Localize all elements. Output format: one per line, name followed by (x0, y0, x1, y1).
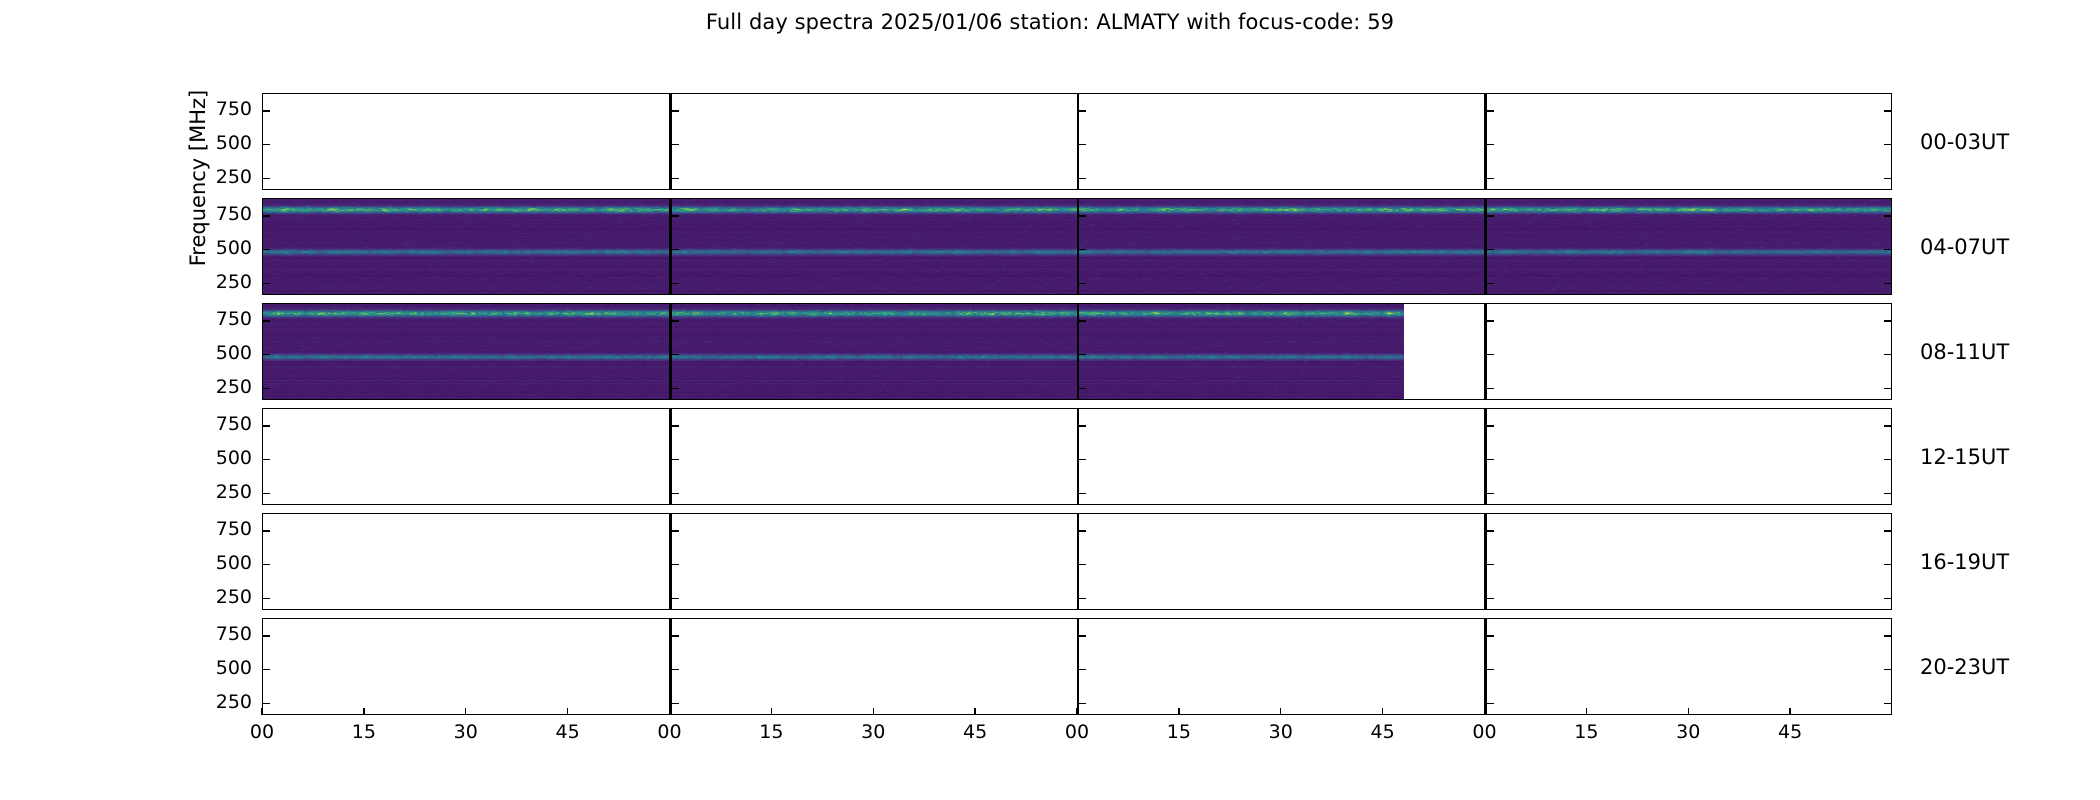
y-tick-mark (672, 493, 679, 494)
spectrogram-panel-08-11ut[interactable] (262, 303, 1892, 400)
y-tick-label: 750 (192, 98, 252, 120)
y-tick-mark (263, 493, 270, 494)
y-tick-mark (1487, 283, 1494, 284)
y-tick-mark (672, 425, 679, 426)
hour-separator (669, 409, 671, 505)
y-tick-mark (1079, 703, 1086, 704)
y-tick-mark (263, 320, 270, 321)
y-tick-mark (1079, 459, 1086, 460)
y-tick-mark (1079, 388, 1086, 389)
y-tick-mark (263, 530, 270, 531)
hour-separator (1484, 619, 1486, 715)
x-tick-mark (1586, 708, 1587, 715)
hour-separator (1077, 94, 1079, 190)
hour-separator (1484, 199, 1486, 295)
panel-row: 75050025012-15UT (262, 408, 1892, 505)
y-tick-mark (1079, 215, 1086, 216)
y-tick-mark (263, 703, 270, 704)
x-tick-mark (261, 708, 262, 715)
hour-separator (1077, 199, 1079, 295)
y-tick-label: 250 (192, 691, 252, 713)
x-tick-mark (873, 708, 874, 715)
x-tick-label: 00 (232, 721, 292, 743)
spectrogram-panel-00-03ut[interactable] (262, 93, 1892, 190)
x-tick-label: 00 (1047, 721, 1107, 743)
y-tick-mark (1079, 283, 1086, 284)
hour-separator (1484, 409, 1486, 505)
y-tick-mark (1884, 530, 1891, 531)
y-tick-mark (1079, 320, 1086, 321)
row-label-12-15ut: 12-15UT (1920, 445, 2009, 469)
y-tick-mark (672, 110, 679, 111)
y-tick-label: 750 (192, 518, 252, 540)
y-tick-mark (1884, 354, 1891, 355)
panel-row: 75050025000-03UT (262, 93, 1892, 190)
y-tick-mark (1884, 249, 1891, 250)
y-tick-mark (1487, 144, 1494, 145)
y-tick-mark (1487, 110, 1494, 111)
y-tick-mark (263, 354, 270, 355)
y-tick-mark (263, 635, 270, 636)
y-tick-mark (1079, 178, 1086, 179)
y-tick-mark (1487, 598, 1494, 599)
y-tick-mark (1487, 459, 1494, 460)
y-tick-label: 250 (192, 481, 252, 503)
x-tick-mark (465, 708, 466, 715)
y-tick-mark (263, 110, 270, 111)
y-tick-mark (263, 425, 270, 426)
y-tick-mark (1487, 530, 1494, 531)
y-tick-mark (1487, 635, 1494, 636)
spectrogram-figure: Full day spectra 2025/01/06 station: ALM… (0, 0, 2100, 800)
figure-title: Full day spectra 2025/01/06 station: ALM… (0, 10, 2100, 34)
y-tick-label: 750 (192, 308, 252, 330)
x-tick-mark (1382, 708, 1383, 715)
y-tick-mark (1487, 425, 1494, 426)
x-tick-mark (1178, 708, 1179, 715)
x-tick-mark (771, 708, 772, 715)
y-tick-mark (672, 249, 679, 250)
y-tick-mark (263, 388, 270, 389)
hour-separator (1077, 304, 1079, 400)
y-tick-mark (1884, 283, 1891, 284)
y-tick-label: 750 (192, 203, 252, 225)
y-tick-mark (1884, 635, 1891, 636)
y-tick-label: 500 (192, 132, 252, 154)
y-tick-mark (1884, 703, 1891, 704)
y-tick-mark (1079, 635, 1086, 636)
x-tick-mark (669, 708, 670, 715)
y-tick-label: 250 (192, 586, 252, 608)
y-tick-mark (672, 564, 679, 565)
row-label-00-03ut: 00-03UT (1920, 130, 2009, 154)
row-label-16-19ut: 16-19UT (1920, 550, 2009, 574)
x-tick-mark (567, 708, 568, 715)
y-tick-mark (1884, 215, 1891, 216)
y-tick-mark (672, 598, 679, 599)
y-tick-mark (1079, 598, 1086, 599)
x-tick-mark (363, 708, 364, 715)
y-tick-mark (1487, 215, 1494, 216)
y-tick-mark (1884, 493, 1891, 494)
x-tick-label: 30 (1251, 721, 1311, 743)
y-tick-mark (1079, 564, 1086, 565)
x-tick-label: 45 (538, 721, 598, 743)
hour-separator (669, 619, 671, 715)
y-tick-mark (672, 144, 679, 145)
y-tick-mark (1487, 249, 1494, 250)
y-tick-mark (1884, 598, 1891, 599)
spectrogram-data (263, 304, 1404, 399)
hour-separator (1484, 304, 1486, 400)
panel-row: 75050025004-07UT (262, 198, 1892, 295)
x-tick-mark (1484, 708, 1485, 715)
y-tick-mark (1884, 110, 1891, 111)
y-tick-mark (263, 283, 270, 284)
y-tick-label: 250 (192, 166, 252, 188)
y-tick-mark (672, 669, 679, 670)
hour-separator (669, 199, 671, 295)
y-tick-mark (672, 459, 679, 460)
y-tick-label: 750 (192, 623, 252, 645)
y-tick-mark (263, 459, 270, 460)
hour-separator (1077, 409, 1079, 505)
spectrogram-panel-16-19ut[interactable] (262, 513, 1892, 610)
y-tick-label: 500 (192, 552, 252, 574)
y-tick-mark (1487, 703, 1494, 704)
x-tick-mark (974, 708, 975, 715)
panel-row: 75050025016-19UT (262, 513, 1892, 610)
y-tick-mark (1487, 178, 1494, 179)
spectrogram-panel-04-07ut[interactable] (262, 198, 1892, 295)
y-tick-mark (672, 283, 679, 284)
y-tick-mark (263, 564, 270, 565)
y-tick-mark (1079, 669, 1086, 670)
x-tick-label: 30 (436, 721, 496, 743)
hour-separator (1077, 619, 1079, 715)
y-tick-label: 500 (192, 342, 252, 364)
y-tick-mark (263, 215, 270, 216)
y-tick-mark (1079, 493, 1086, 494)
y-tick-label: 500 (192, 237, 252, 259)
row-label-08-11ut: 08-11UT (1920, 340, 2009, 364)
hour-separator (1077, 514, 1079, 610)
y-tick-mark (672, 703, 679, 704)
x-tick-mark (1789, 708, 1790, 715)
y-tick-mark (1079, 354, 1086, 355)
x-tick-mark (1688, 708, 1689, 715)
x-tick-label: 15 (741, 721, 801, 743)
y-tick-mark (1487, 320, 1494, 321)
y-tick-mark (672, 354, 679, 355)
y-tick-mark (263, 144, 270, 145)
y-tick-mark (1884, 669, 1891, 670)
y-tick-mark (1079, 249, 1086, 250)
panel-row: 75050025020-23UT (262, 618, 1892, 715)
y-tick-mark (1079, 110, 1086, 111)
row-label-20-23ut: 20-23UT (1920, 655, 2009, 679)
y-tick-mark (1884, 388, 1891, 389)
y-tick-mark (1487, 669, 1494, 670)
y-tick-mark (1487, 388, 1494, 389)
y-tick-mark (672, 320, 679, 321)
x-tick-mark (1280, 708, 1281, 715)
hour-separator (669, 514, 671, 610)
y-tick-mark (1079, 530, 1086, 531)
panel-row: 75050025008-11UT (262, 303, 1892, 400)
x-tick-label: 15 (1149, 721, 1209, 743)
x-tick-label: 00 (1455, 721, 1515, 743)
y-tick-mark (1487, 493, 1494, 494)
y-tick-mark (1884, 178, 1891, 179)
hour-separator (669, 304, 671, 400)
hour-separator (1484, 514, 1486, 610)
row-label-04-07ut: 04-07UT (1920, 235, 2009, 259)
x-tick-label: 00 (640, 721, 700, 743)
y-tick-label: 750 (192, 413, 252, 435)
y-tick-mark (672, 215, 679, 216)
x-tick-label: 30 (843, 721, 903, 743)
y-tick-mark (672, 388, 679, 389)
hour-separator (1484, 94, 1486, 190)
y-tick-label: 500 (192, 447, 252, 469)
panel-grid: 75050025000-03UT75050025004-07UT75050025… (262, 93, 1892, 723)
y-tick-mark (1884, 320, 1891, 321)
y-tick-mark (672, 635, 679, 636)
y-tick-mark (1884, 459, 1891, 460)
x-tick-label: 15 (334, 721, 394, 743)
x-tick-label: 30 (1658, 721, 1718, 743)
x-tick-mark (1076, 708, 1077, 715)
spectrogram-panel-20-23ut[interactable] (262, 618, 1892, 715)
y-tick-mark (1487, 354, 1494, 355)
y-tick-mark (1884, 425, 1891, 426)
y-tick-mark (1079, 425, 1086, 426)
y-tick-mark (672, 178, 679, 179)
y-tick-mark (1487, 564, 1494, 565)
y-tick-mark (672, 530, 679, 531)
y-tick-mark (263, 249, 270, 250)
y-tick-mark (1884, 564, 1891, 565)
y-tick-mark (1884, 144, 1891, 145)
x-tick-label: 45 (1760, 721, 1820, 743)
y-tick-mark (263, 669, 270, 670)
y-tick-mark (1079, 144, 1086, 145)
spectrogram-panel-12-15ut[interactable] (262, 408, 1892, 505)
y-tick-label: 500 (192, 657, 252, 679)
x-tick-label: 45 (945, 721, 1005, 743)
y-tick-label: 250 (192, 271, 252, 293)
hour-separator (669, 94, 671, 190)
x-tick-label: 45 (1353, 721, 1413, 743)
x-tick-label: 15 (1556, 721, 1616, 743)
y-tick-label: 250 (192, 376, 252, 398)
y-tick-mark (263, 178, 270, 179)
y-tick-mark (263, 598, 270, 599)
